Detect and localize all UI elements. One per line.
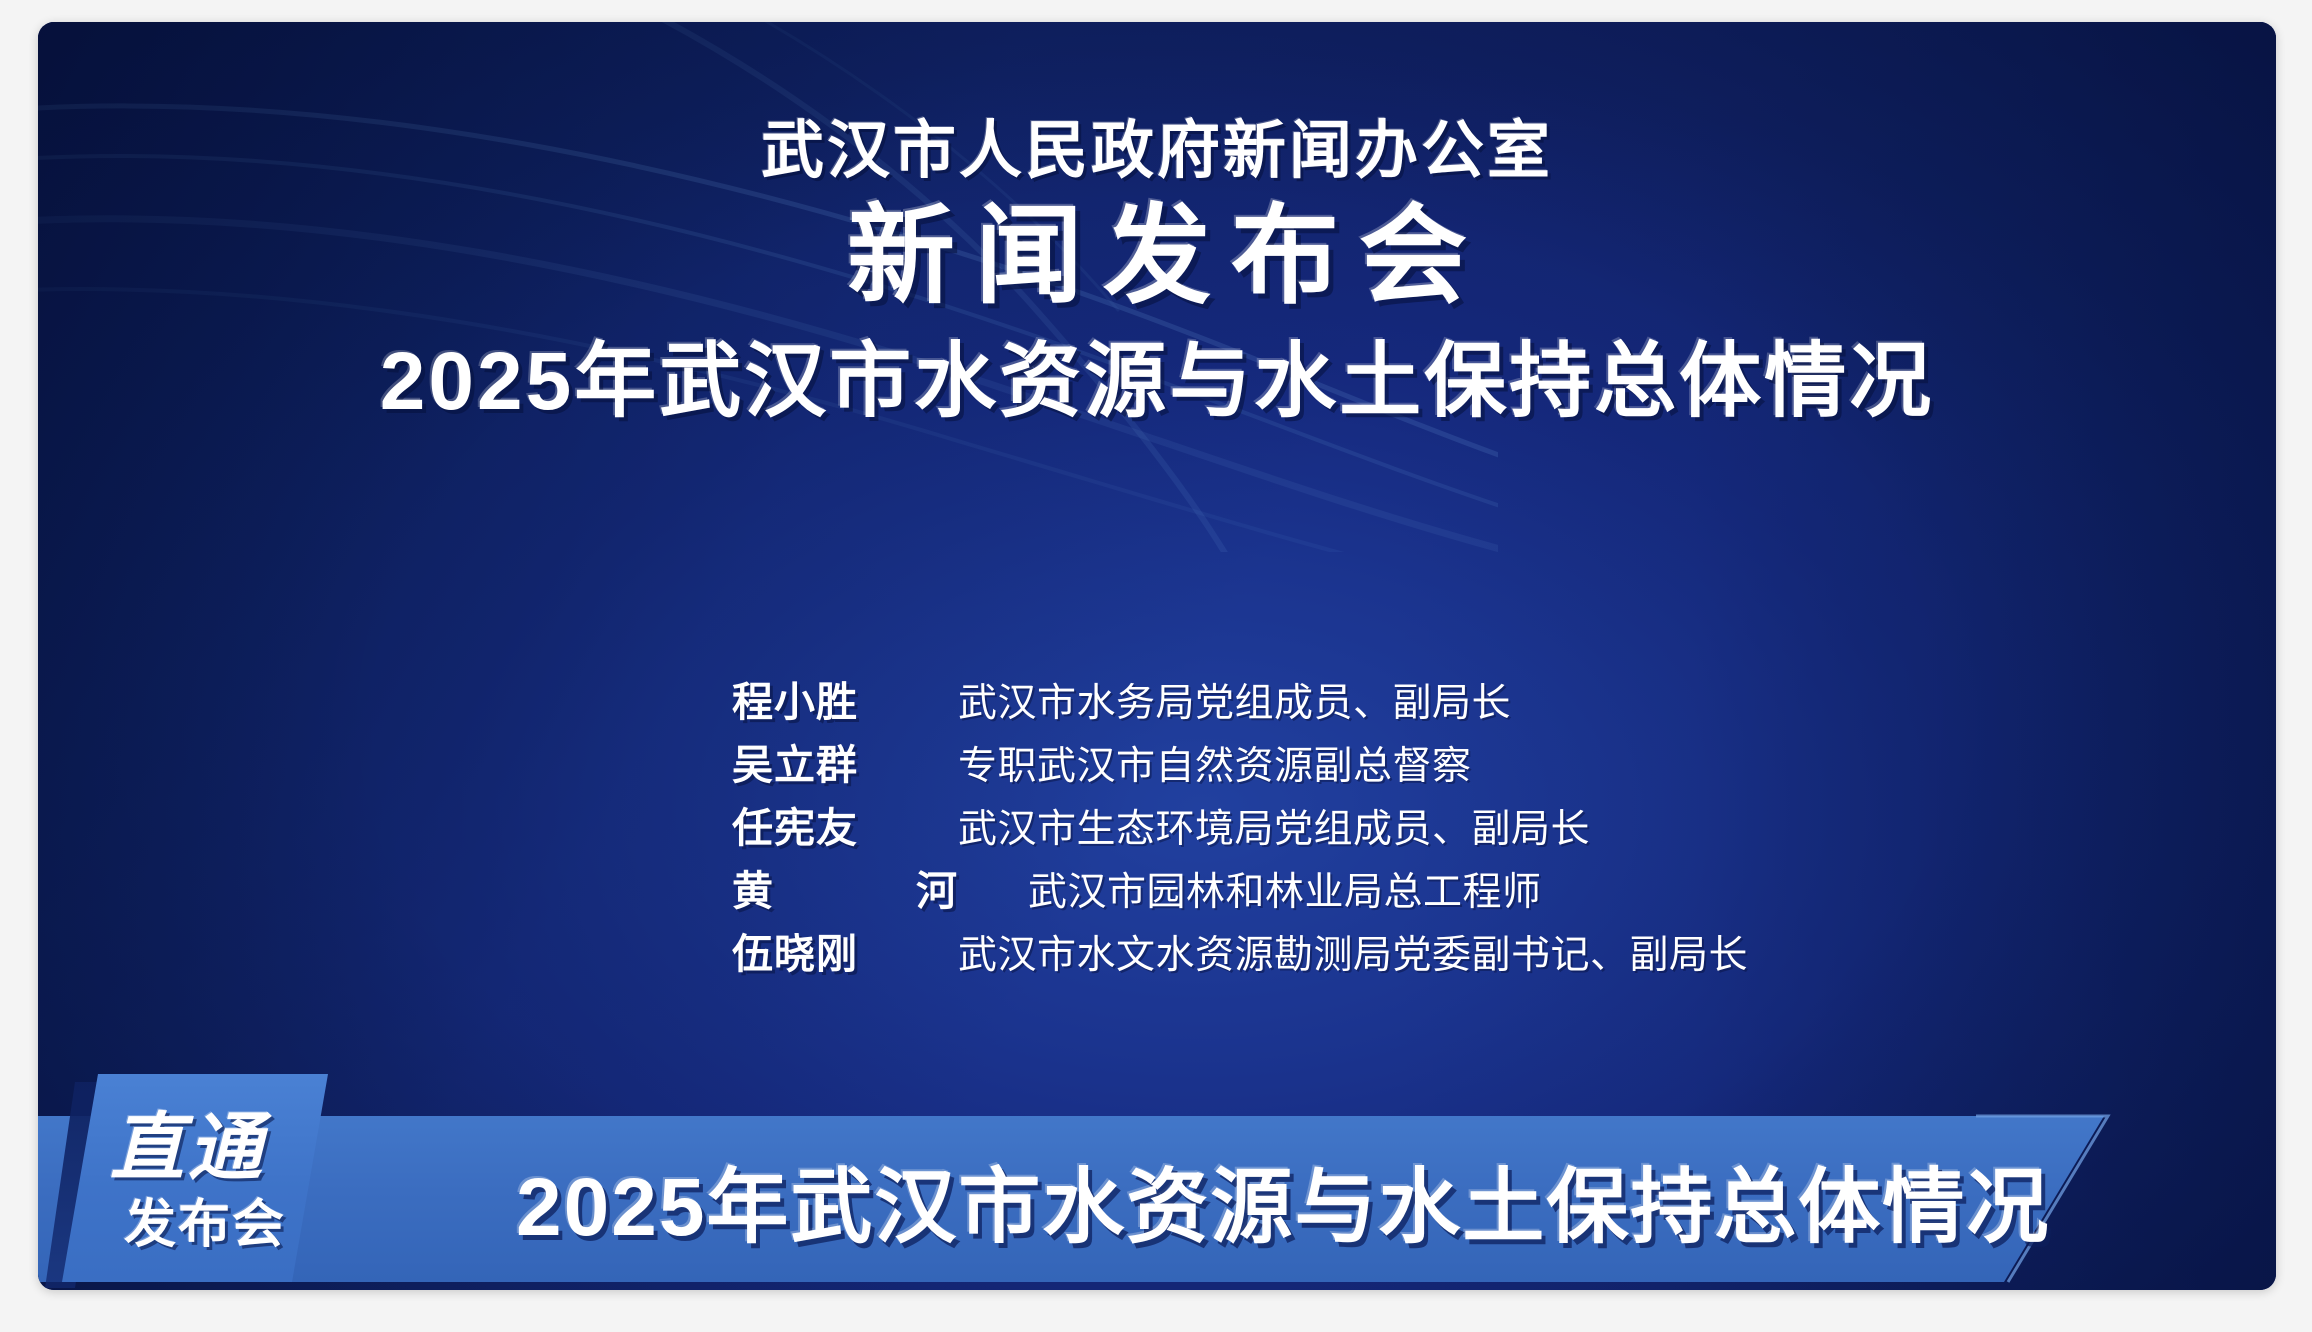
speaker-title: 武汉市生态环境局党组成员、副局长: [958, 798, 1590, 854]
subtitle: 2025年武汉市水资源与水土保持总体情况: [38, 337, 2276, 427]
page-title: 新闻发布会: [38, 198, 2276, 315]
banner-headline: 2025年武汉市水资源与水土保持总体情况: [516, 1140, 2050, 1259]
logo-top-text: 直通: [110, 1088, 266, 1195]
speaker-name: 伍晓刚: [732, 920, 958, 980]
speaker-givenname: 河: [916, 857, 958, 917]
speaker-title: 武汉市水文水资源勘测局党委副书记、副局长: [958, 924, 1748, 980]
list-item: 伍晓刚 武汉市水文水资源勘测局党委副书记、副局长: [732, 920, 1748, 983]
speaker-name: 吴立群: [732, 731, 958, 791]
speaker-list: 程小胜 武汉市水务局党组成员、副局长 吴立群 专职武汉市自然资源副总督察 任宪友…: [732, 668, 1748, 983]
screenshot-page: 武汉市人民政府新闻办公室 新闻发布会 2025年武汉市水资源与水土保持总体情况 …: [0, 0, 2312, 1332]
speaker-surname: 黄: [732, 857, 774, 917]
headline-block: 武汉市人民政府新闻办公室 新闻发布会 2025年武汉市水资源与水土保持总体情况: [38, 118, 2276, 427]
lower-third-banner: 直通 发布会 2025年武汉市水资源与水土保持总体情况: [38, 1038, 2276, 1290]
speaker-title: 武汉市园林和林业局总工程师: [1028, 861, 1542, 917]
speaker-name: 任宪友: [732, 794, 958, 854]
speaker-name: 程小胜: [732, 668, 958, 728]
list-item: 程小胜 武汉市水务局党组成员、副局长: [732, 668, 1748, 731]
list-item: 任宪友 武汉市生态环境局党组成员、副局长: [732, 794, 1748, 857]
logo-bottom-text: 发布会: [124, 1182, 286, 1257]
speaker-name: 黄河: [732, 857, 1028, 917]
presentation-slide: 武汉市人民政府新闻办公室 新闻发布会 2025年武汉市水资源与水土保持总体情况 …: [38, 22, 2276, 1290]
speaker-title: 武汉市水务局党组成员、副局长: [958, 672, 1511, 728]
organization-line: 武汉市人民政府新闻办公室: [38, 118, 2276, 184]
speaker-title: 专职武汉市自然资源副总督察: [958, 735, 1472, 791]
program-logo: 直通 发布会: [62, 1074, 328, 1282]
list-item: 吴立群 专职武汉市自然资源副总督察: [732, 731, 1748, 794]
list-item: 黄河 武汉市园林和林业局总工程师: [732, 857, 1748, 920]
